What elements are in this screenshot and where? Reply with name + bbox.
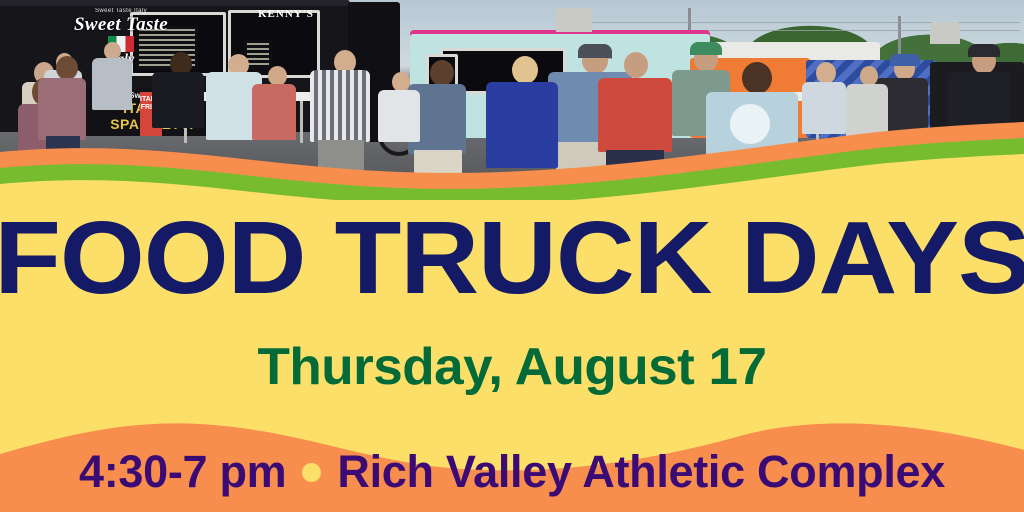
person-head <box>392 72 410 92</box>
poster-headline: FOOD TRUCK DAYS <box>0 206 1024 310</box>
person <box>152 72 204 128</box>
roof-vent <box>930 22 960 44</box>
person-head <box>268 66 287 86</box>
person-head <box>512 56 538 84</box>
sign-title: Sweet Taste <box>46 15 196 34</box>
person <box>92 58 132 110</box>
person-head <box>742 62 772 94</box>
yellow-dot-separator-icon <box>302 463 321 482</box>
poster-footer: 4:30-7 pm Rich Valley Athletic Complex <box>0 446 1024 498</box>
poster-date: Thursday, August 17 <box>0 339 1024 395</box>
event-photo: Sweet Taste Italy Sweet Taste Italy KENN… <box>0 0 1024 200</box>
sweet-taste-italy-sign: Sweet Taste Italy Sweet Taste Italy <box>46 8 196 60</box>
person-head <box>816 62 836 84</box>
event-venue: Rich Valley Athletic Complex <box>337 446 945 498</box>
roof-vent <box>556 8 592 32</box>
person-head <box>624 52 648 78</box>
sign-pre-label: Sweet Taste Italy <box>46 8 196 14</box>
hat <box>690 42 722 55</box>
hat <box>968 44 1000 57</box>
wave-divider-top <box>0 122 1024 200</box>
person-head <box>430 60 454 86</box>
hat <box>578 44 612 58</box>
event-time: 4:30-7 pm <box>79 446 286 498</box>
person-head <box>56 56 78 80</box>
kennys-sign: KENNY'S <box>258 8 350 22</box>
food-truck-days-poster: Sweet Taste Italy Sweet Taste Italy KENN… <box>0 0 1024 512</box>
hat <box>890 54 920 66</box>
person-head <box>860 66 878 86</box>
